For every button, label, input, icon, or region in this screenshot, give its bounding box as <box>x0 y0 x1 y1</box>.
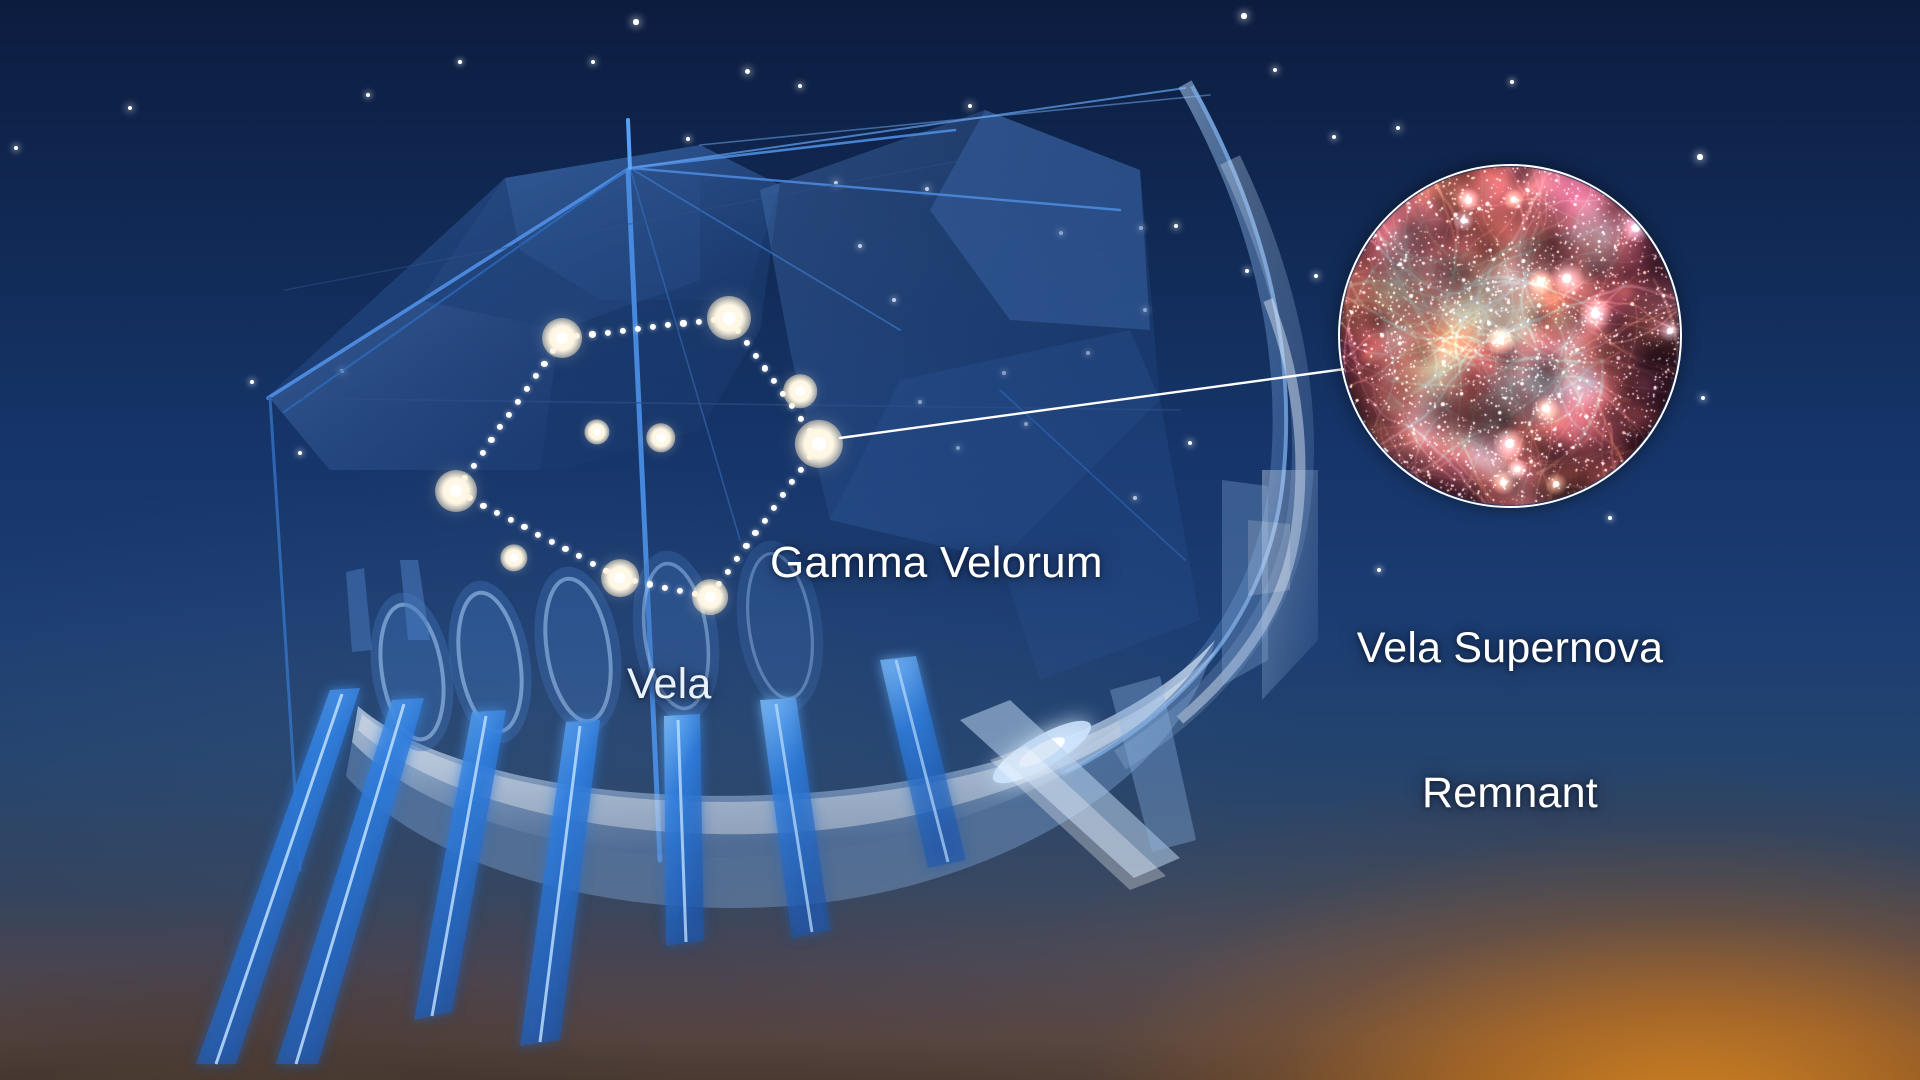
nebula-image <box>1340 166 1680 506</box>
label-vela-supernova-remnant: Vela Supernova Remnant <box>1345 528 1675 913</box>
scene-root: Gamma Velorum Vela Vela Supernova Remnan… <box>0 0 1920 1080</box>
label-vela: Vela <box>627 660 712 708</box>
label-gamma-velorum: Gamma Velorum <box>770 538 1103 587</box>
leader-line <box>840 368 1352 438</box>
label-vsr-line2: Remnant <box>1345 769 1675 817</box>
label-vsr-line1: Vela Supernova <box>1345 624 1675 672</box>
vela-supernova-remnant-inset[interactable] <box>1338 164 1682 508</box>
